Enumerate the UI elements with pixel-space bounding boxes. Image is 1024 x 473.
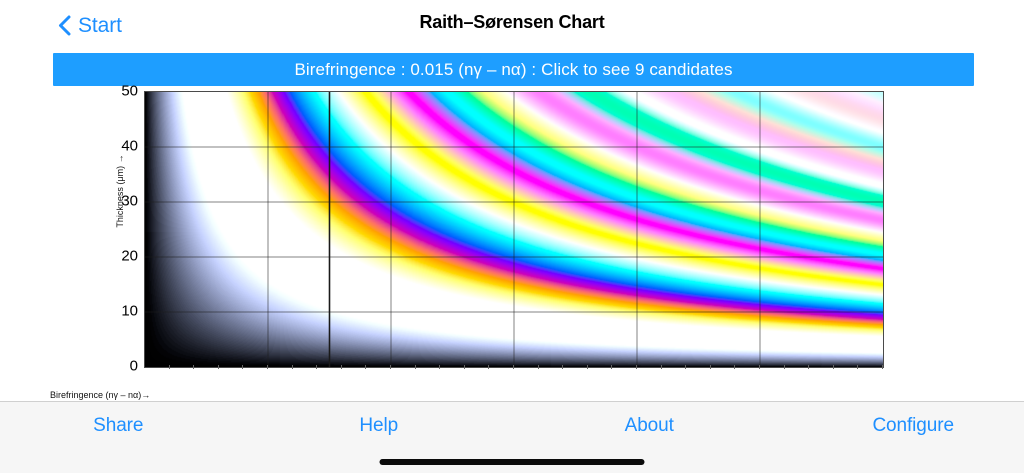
y-axis-tick-label: 10	[104, 303, 138, 320]
x-axis-tick-mark	[833, 365, 834, 369]
x-axis-tick-mark	[734, 365, 735, 369]
x-axis-tick-mark	[587, 365, 588, 369]
y-axis-tick-label: 0	[104, 358, 138, 375]
x-axis-tick-mark	[218, 365, 219, 369]
x-axis-tick-mark	[365, 365, 366, 369]
x-axis-tick-mark	[759, 365, 760, 369]
x-axis-tick-mark	[267, 365, 268, 369]
x-axis-tick-mark	[169, 365, 170, 369]
michel-levy-colour-field[interactable]	[145, 92, 883, 367]
x-axis-tick-mark	[857, 365, 858, 369]
x-axis-tick-mark	[415, 365, 416, 369]
x-axis-tick-mark	[513, 365, 514, 369]
y-axis-labels: Thickness (μm) → 01020304050	[96, 91, 138, 366]
x-axis-tick-mark	[685, 365, 686, 369]
toolbar-item-configure[interactable]: Configure	[872, 415, 953, 437]
x-axis-tick-mark	[390, 365, 391, 369]
x-axis-tick-mark	[341, 365, 342, 369]
home-indicator[interactable]	[380, 459, 645, 465]
x-axis-tick-mark	[488, 365, 489, 369]
x-axis-tick-mark	[562, 365, 563, 369]
y-axis-tick-label: 40	[104, 138, 138, 155]
x-axis-tick-mark	[636, 365, 637, 369]
birefringence-banner-button[interactable]: Birefringence : 0.015 (nγ – nα) : Click …	[53, 53, 974, 86]
x-axis-tick-mark	[882, 365, 883, 369]
x-axis-tick-mark	[316, 365, 317, 369]
x-axis-tick-mark	[242, 365, 243, 369]
x-axis-tick-mark	[611, 365, 612, 369]
toolbar-item-help[interactable]: Help	[359, 415, 398, 437]
x-axis-tick-mark	[464, 365, 465, 369]
x-axis-tick-mark	[439, 365, 440, 369]
x-axis-title: Birefringence (nγ – nα)→	[50, 390, 150, 400]
interference-colour-plot[interactable]	[144, 91, 884, 368]
y-axis-tick-label: 50	[104, 83, 138, 100]
x-axis-labels: 0.0020.0040.0060.0080.0100.0120.0140.016…	[144, 369, 884, 405]
toolbar-item-about[interactable]: About	[625, 415, 674, 437]
toolbar-item-share[interactable]: Share	[93, 415, 143, 437]
navigation-bar: Start Raith–Sørensen Chart	[0, 0, 1024, 50]
x-axis-tick-mark	[710, 365, 711, 369]
x-axis-tick-mark	[808, 365, 809, 369]
y-axis-tick-label: 30	[104, 193, 138, 210]
bottom-toolbar: ShareHelpAboutConfigure	[0, 401, 1024, 473]
chart-container: Thickness (μm) → 01020304050 0.0020.0040…	[0, 86, 1024, 401]
x-axis-tick-mark	[661, 365, 662, 369]
y-axis-tick-label: 20	[104, 248, 138, 265]
x-axis-tick-mark	[784, 365, 785, 369]
page-title: Raith–Sørensen Chart	[0, 12, 1024, 33]
x-axis-tick-mark	[538, 365, 539, 369]
x-axis-tick-mark	[193, 365, 194, 369]
birefringence-banner-label: Birefringence : 0.015 (nγ – nα) : Click …	[294, 60, 732, 80]
x-axis-tick-mark	[292, 365, 293, 369]
